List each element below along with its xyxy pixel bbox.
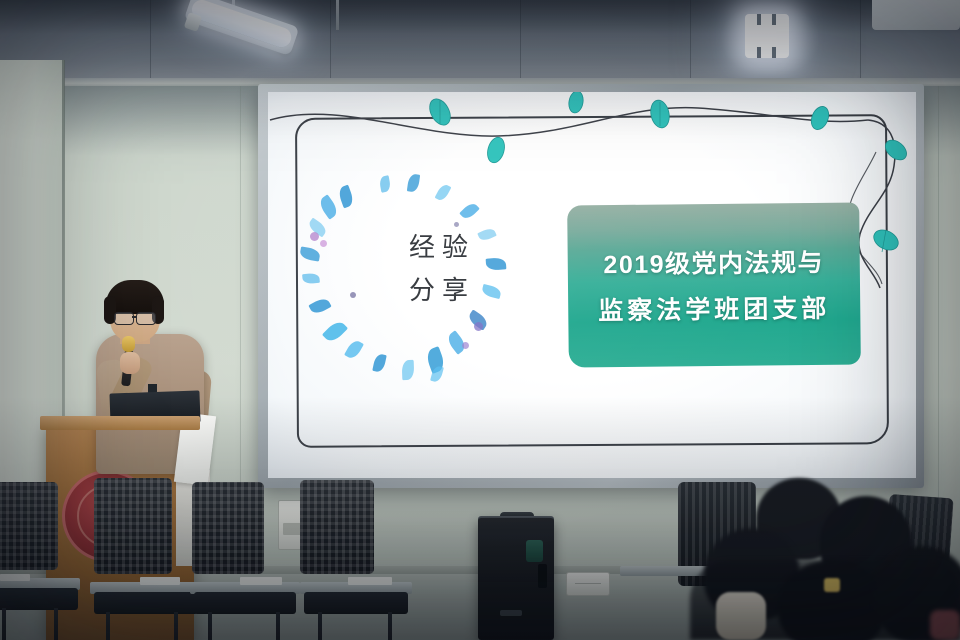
chair[interactable] [192, 482, 282, 640]
chair[interactable] [0, 482, 76, 640]
watercolor-petal-wreath: 经验 分享 [304, 170, 516, 382]
microphone-icon [122, 336, 135, 352]
speaker-hand [120, 352, 140, 374]
classroom-photo-scene: 经验 分享 2019级党内法规与 监察法学班团支部 [0, 0, 960, 640]
projected-slide: 经验 分享 2019级党内法规与 监察法学班团支部 [268, 92, 916, 478]
pa-speaker-vent [538, 564, 547, 588]
banner-title-line-2: 监察法学班团支部 [568, 288, 860, 327]
wall-outlet-box [566, 572, 610, 596]
wreath-title: 经验 分享 [382, 232, 502, 305]
ceiling-vent [872, 0, 960, 30]
eyeglasses-lens-right-icon [136, 312, 156, 325]
eyeglasses-lens-left-icon [114, 312, 134, 325]
wreath-title-line-2: 分享 [382, 275, 502, 306]
hair-clip [824, 578, 840, 592]
podium-top-surface [40, 416, 200, 430]
eyeglasses-bridge [132, 316, 137, 318]
chair[interactable] [94, 478, 186, 640]
pa-speaker-badge [526, 540, 543, 562]
green-brush-banner: 2019级党内法规与 监察法学班团支部 [567, 202, 861, 367]
pa-speaker-cabinet [478, 518, 554, 640]
wall-seam [938, 86, 939, 556]
chair[interactable] [300, 480, 394, 640]
wreath-title-line-1: 经验 [382, 232, 502, 263]
audience-clothing [930, 610, 960, 640]
pa-speaker-logo [500, 610, 522, 616]
banner-title-line-1: 2019级党内法规与 [568, 242, 860, 281]
audience-scarf [716, 592, 766, 640]
banner-title: 2019级党内法规与 监察法学班团支部 [568, 242, 861, 327]
wall-seam [240, 86, 241, 506]
recessed-ceiling-light-icon [745, 14, 789, 58]
light-stem [336, 0, 339, 30]
